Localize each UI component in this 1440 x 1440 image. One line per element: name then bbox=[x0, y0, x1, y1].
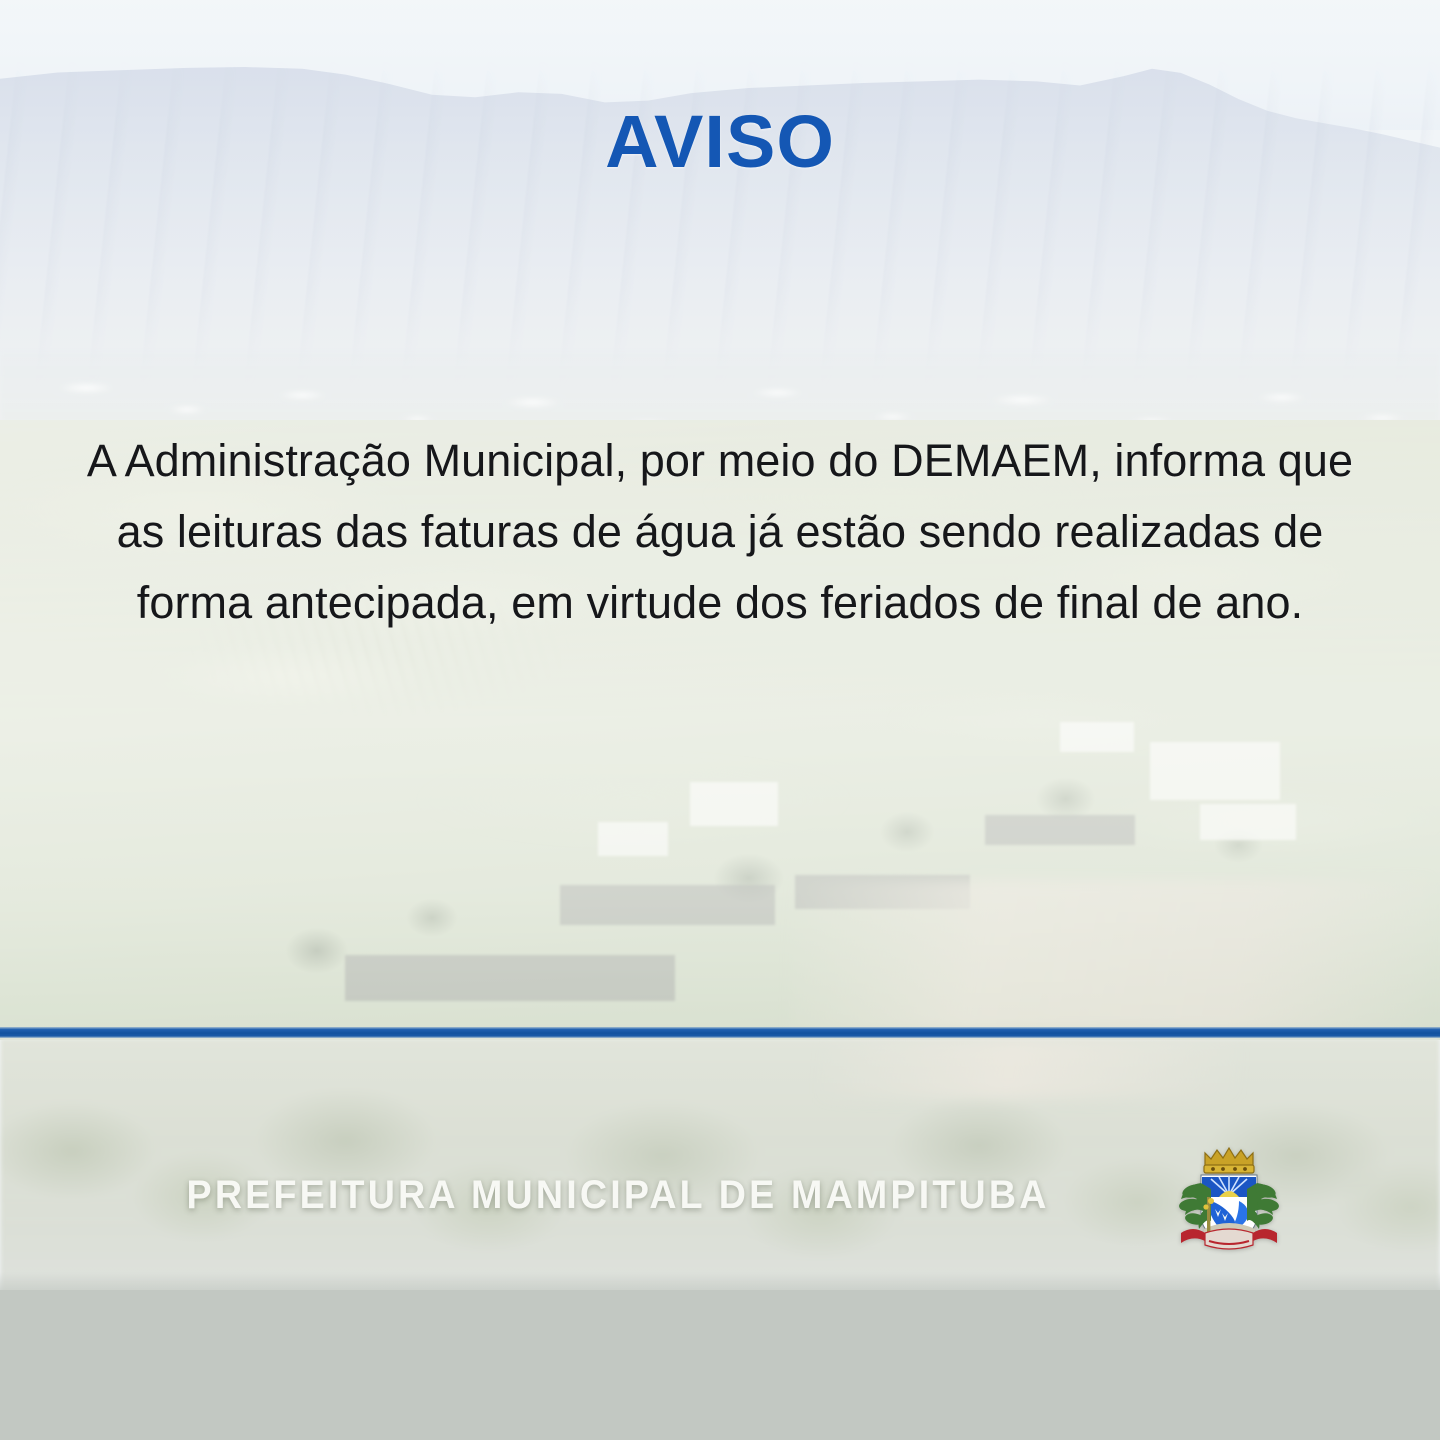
footer-bar: PREFEITURA MUNICIPAL DE MAMPITUBA bbox=[0, 1140, 1440, 1250]
ribbon-scroll bbox=[1181, 1229, 1277, 1249]
announcement-body-text: A Administração Municipal, por meio do D… bbox=[78, 425, 1362, 638]
municipal-coat-of-arms-icon bbox=[1177, 1137, 1281, 1253]
bottom-solid-band bbox=[0, 1290, 1440, 1440]
poster-announcement: AVISO A Administração Municipal, por mei… bbox=[0, 0, 1440, 1440]
page-title: AVISO bbox=[0, 105, 1440, 179]
organization-name: PREFEITURA MUNICIPAL DE MAMPITUBA bbox=[186, 1173, 1049, 1218]
blue-divider-rule bbox=[0, 1027, 1440, 1038]
crown-icon bbox=[1204, 1148, 1254, 1173]
